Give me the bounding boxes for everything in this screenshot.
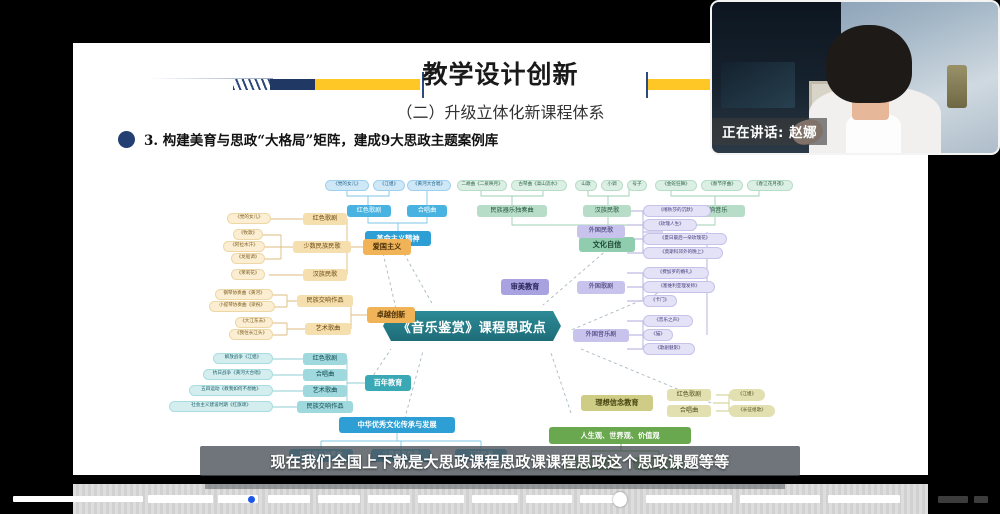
mm-mid: 汉族民歌 (583, 205, 631, 217)
timeline-segment[interactable] (526, 495, 572, 503)
mm-hub: 人生观、世界观、价值观 (549, 427, 691, 444)
speaker-video-pip[interactable]: 正在讲话: 赵娜 (710, 0, 1000, 155)
mm-leaf: 二胡曲《二泉映月》 (457, 180, 507, 191)
video-player[interactable]: 教学设计创新 （二）升级立体化新课程体系 3. 构建美育与思政“大格局”矩阵，建… (0, 0, 1000, 514)
mm-mid: 合唱曲 (407, 205, 447, 217)
mm-leaf: 《莫斯科郊外的晚上》 (643, 247, 723, 259)
mm-hub: 审美教育 (501, 279, 549, 295)
timeline-segment[interactable] (368, 495, 410, 503)
mm-mid: 红色歌剧 (303, 353, 347, 365)
timeline-segment[interactable] (418, 495, 464, 503)
mm-leaf: 《夏日最后一朵玫瑰花》 (643, 233, 727, 245)
mm-leaf: 《茉莉花》 (231, 269, 265, 280)
mm-leaf: 《党的女儿》 (325, 180, 369, 191)
mm-mid: 外国民歌 (577, 225, 625, 238)
mm-leaf: 《音乐之声》 (643, 315, 693, 327)
mm-mid: 艺术歌曲 (305, 323, 351, 335)
mm-leaf: 《大江东去》 (235, 317, 273, 328)
mm-leaf: 社会主义建设时期《红旗颂》 (169, 401, 273, 412)
mm-hub: 理想信念教育 (581, 395, 653, 411)
mm-leaf: 《江姐》 (373, 180, 405, 191)
player-control-bar[interactable] (0, 484, 1000, 514)
timeline-segment[interactable] (148, 495, 213, 503)
mm-mid: 民族器乐独奏曲 (477, 205, 547, 217)
mm-mid: 外国歌剧 (577, 281, 625, 294)
mm-leaf: 小提琴协奏曲《梁祝》 (209, 301, 275, 312)
chapter-marker-dot[interactable] (248, 496, 255, 503)
mm-hub: 卓越创新 (367, 307, 415, 323)
mm-leaf: 《党的女儿》 (227, 213, 271, 224)
control-button-right-1[interactable] (938, 496, 968, 503)
mm-mid: 合唱曲 (303, 369, 347, 381)
mm-leaf: 《喀秋莎的沉默》 (643, 205, 711, 217)
mm-mid: 红色歌剧 (347, 205, 391, 217)
mm-leaf: 《费加罗的婚礼》 (643, 267, 709, 279)
mm-leaf: 《塞维利亚理发师》 (643, 281, 715, 293)
mm-leaf: 小调 (601, 180, 623, 191)
mm-leaf: 五四运动《教我如何不想她》 (189, 385, 273, 396)
timeline-segment[interactable] (318, 495, 360, 503)
timeline-scrubber-handle[interactable] (613, 492, 627, 507)
mm-leaf: 抗日战争《黄河大合唱》 (203, 369, 273, 380)
timeline-segment[interactable] (268, 495, 310, 503)
mm-leaf: 《卡门》 (643, 295, 677, 307)
mm-mid: 汉族民歌 (303, 269, 347, 281)
slide-bullet-text: 3. 构建美育与思政“大格局”矩阵，建成9大思政主题案例库 (144, 129, 498, 149)
mm-hub: 中华优秀文化传承与发展 (339, 417, 455, 433)
mm-leaf: 《玫瑰人生》 (643, 219, 697, 231)
timeline-segment[interactable] (472, 495, 518, 503)
mindmap-diagram: 《音乐鉴赏》课程思政点 《党的女儿》 《江姐》 《黄河大合唱》 红色歌剧 合唱曲… (151, 163, 851, 463)
subtitle-bar: 现在我们全国上下就是大思政课程思政课课程思政这个思政课题等等 (200, 446, 800, 476)
control-button-right-2[interactable] (974, 496, 988, 503)
mm-leaf: 《长征组歌》 (729, 405, 775, 417)
mm-leaf: 《春节序曲》 (701, 180, 743, 191)
bullet-dot-icon (118, 131, 135, 148)
mm-hub: 文化自信 (579, 237, 635, 252)
mm-mid: 红色歌剧 (303, 213, 347, 225)
mm-mid: 民族交响作品 (297, 295, 353, 307)
mm-leaf: 《我住长江头》 (229, 329, 273, 340)
mm-leaf: 钢琴协奏曲《黄河》 (215, 289, 273, 300)
mm-leaf: 《猫》 (643, 329, 673, 341)
mm-mid: 艺术歌曲 (303, 385, 347, 397)
pip-monitor (721, 62, 795, 107)
mm-leaf: 《歌剧魅影》 (643, 343, 695, 355)
mm-leaf: 《黄河大合唱》 (407, 180, 451, 191)
timeline-segment[interactable] (828, 495, 900, 503)
mm-leaf: 《龙船调》 (231, 253, 265, 264)
mm-leaf: 古琴曲《高山流水》 (511, 180, 567, 191)
slide-bullet: 3. 构建美育与思政“大格局”矩阵，建成9大思政主题案例库 (118, 129, 498, 149)
timeline-segment[interactable] (740, 495, 820, 503)
pip-person-hair (826, 25, 912, 104)
mm-leaf: 解放战争《江姐》 (213, 353, 273, 364)
mm-leaf: 《江姐》 (729, 389, 765, 401)
mm-leaf: 《春江花月夜》 (747, 180, 793, 191)
timeline-segment[interactable] (13, 496, 143, 502)
mm-leaf: 《牧歌》 (233, 229, 263, 240)
timeline-buffer (205, 484, 785, 489)
mm-hub: 百年教育 (365, 375, 411, 391)
mm-mid: 民族交响作品 (297, 401, 353, 413)
mm-leaf: 《阿拉木汗》 (223, 241, 265, 252)
subtitle-text: 现在我们全国上下就是大思政课程思政课课程思政这个思政课题等等 (270, 451, 729, 472)
mm-leaf: 号子 (627, 180, 647, 191)
timeline-segment[interactable] (646, 495, 732, 503)
mm-leaf: 《金蛇狂舞》 (655, 180, 697, 191)
mm-mid: 红色歌剧 (667, 389, 711, 401)
mm-hub: 爱国主义 (363, 239, 411, 255)
active-speaker-label: 正在讲话: 赵娜 (712, 118, 827, 145)
mm-mid: 外国音乐剧 (573, 329, 629, 342)
mm-leaf: 山歌 (575, 180, 597, 191)
mm-mid: 少数民族民歌 (293, 241, 351, 253)
pip-lamp (947, 65, 967, 107)
mm-mid: 合唱曲 (667, 405, 711, 417)
